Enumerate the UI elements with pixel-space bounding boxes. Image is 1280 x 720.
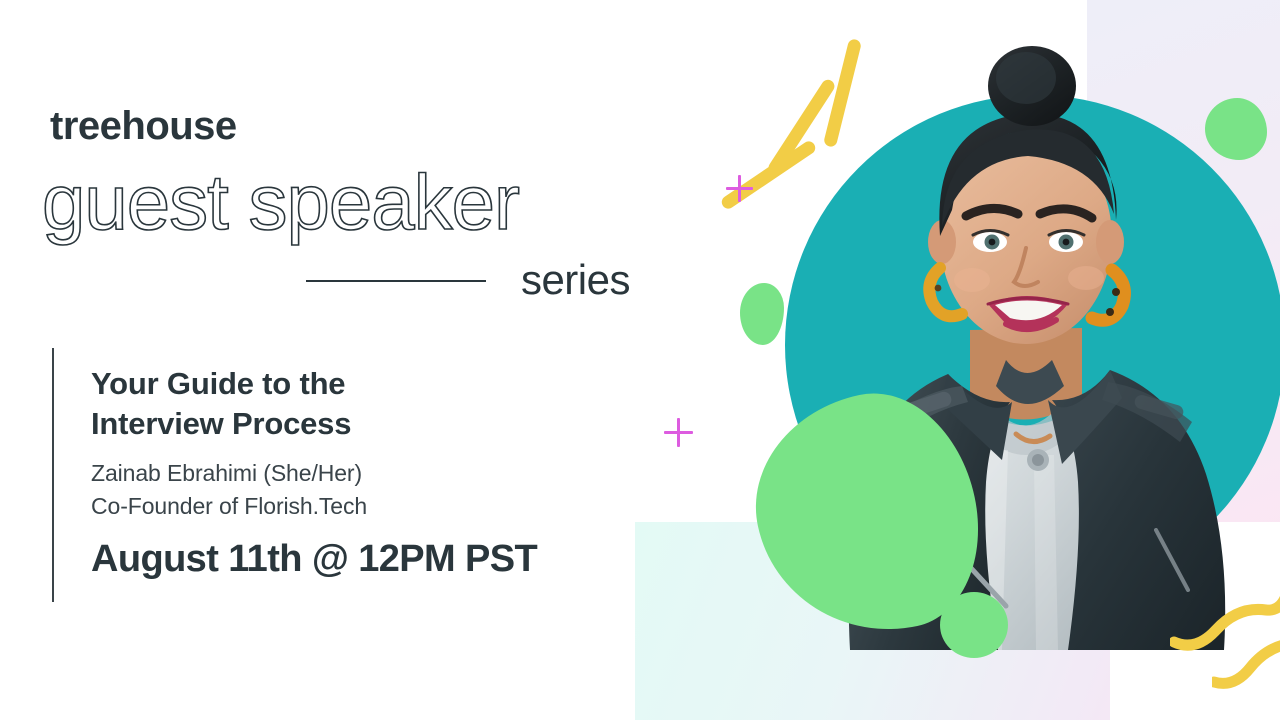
green-blob-small-icon	[740, 283, 784, 345]
promo-poster: treehouse guest speaker series Your Guid…	[0, 0, 1280, 720]
series-divider-rule	[306, 280, 486, 282]
program-title: guest speaker	[42, 163, 519, 241]
brand-logotype: treehouse	[50, 106, 237, 146]
speaker-name: Zainab Ebrahimi (She/Her)	[91, 457, 631, 490]
event-date-time: August 11th @ 12PM PST	[91, 539, 631, 581]
info-vertical-rule	[52, 348, 54, 602]
magenta-plus-2-icon	[664, 418, 693, 447]
talk-info-block: Your Guide to the Interview Process Zain…	[91, 364, 631, 580]
yellow-swoosh-2-icon	[1212, 626, 1280, 696]
series-label: series	[521, 255, 630, 305]
speaker-role: Co-Founder of Florish.Tech	[91, 490, 631, 523]
series-row: series	[300, 255, 630, 305]
magenta-plus-1-icon	[726, 175, 753, 202]
talk-title: Your Guide to the Interview Process	[91, 364, 631, 443]
green-blob-bottom-icon	[940, 592, 1008, 658]
